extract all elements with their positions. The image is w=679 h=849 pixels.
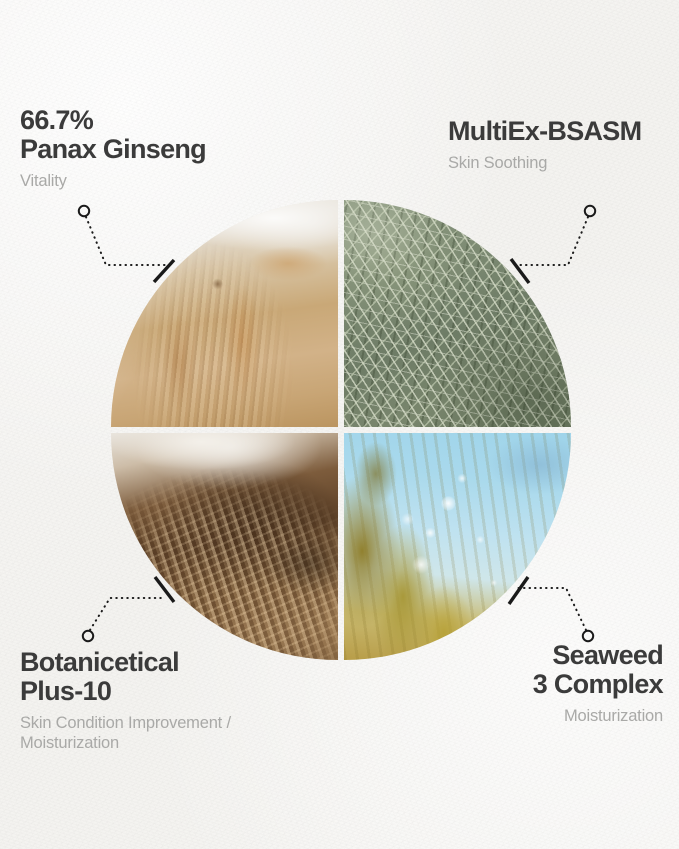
quadrant-seaweed-3-complex <box>344 433 571 660</box>
dried-ginseng-roots-photo <box>111 200 338 427</box>
label-multiex-bsasm: MultiEx-BSASM Skin Soothing <box>448 117 641 173</box>
label-benefit-multiex-bsasm: Skin Soothing <box>448 153 641 173</box>
ingredient-circle <box>111 200 571 660</box>
label-benefit-panax-ginseng: Vitality <box>20 171 206 191</box>
connector-dot-botanicetical-plus-10 <box>83 631 93 641</box>
label-seaweed-3-complex: Seaweed 3 Complex Moisturization <box>533 641 663 726</box>
label-benefit-seaweed-3-complex: Moisturization <box>533 706 663 726</box>
connector-dot-panax-ginseng <box>79 206 89 216</box>
quadrant-panax-ginseng <box>111 200 338 427</box>
label-benefit-botanicetical-plus-10: Skin Condition Improvement / Moisturizat… <box>20 713 231 753</box>
underwater-kelp-seaweed-photo <box>344 433 571 660</box>
label-title-multiex-bsasm: MultiEx-BSASM <box>448 117 641 146</box>
quadrant-multiex-bsasm <box>344 200 571 427</box>
connector-dot-multiex-bsasm <box>585 206 595 216</box>
quadrant-botanicetical-plus-10 <box>111 433 338 660</box>
label-botanicetical-plus-10: Botanicetical Plus-10 Skin Condition Imp… <box>20 648 231 753</box>
label-title-botanicetical-plus-10: Botanicetical Plus-10 <box>20 648 231 706</box>
ingredient-infographic: 66.7% Panax Ginseng Vitality MultiEx-BSA… <box>0 0 679 849</box>
label-title-panax-ginseng: 66.7% Panax Ginseng <box>20 106 206 164</box>
label-panax-ginseng: 66.7% Panax Ginseng Vitality <box>20 106 206 191</box>
label-title-seaweed-3-complex: Seaweed 3 Complex <box>533 641 663 699</box>
licorice-root-in-bowl-photo <box>111 433 338 660</box>
green-herb-foliage-photo <box>344 200 571 427</box>
